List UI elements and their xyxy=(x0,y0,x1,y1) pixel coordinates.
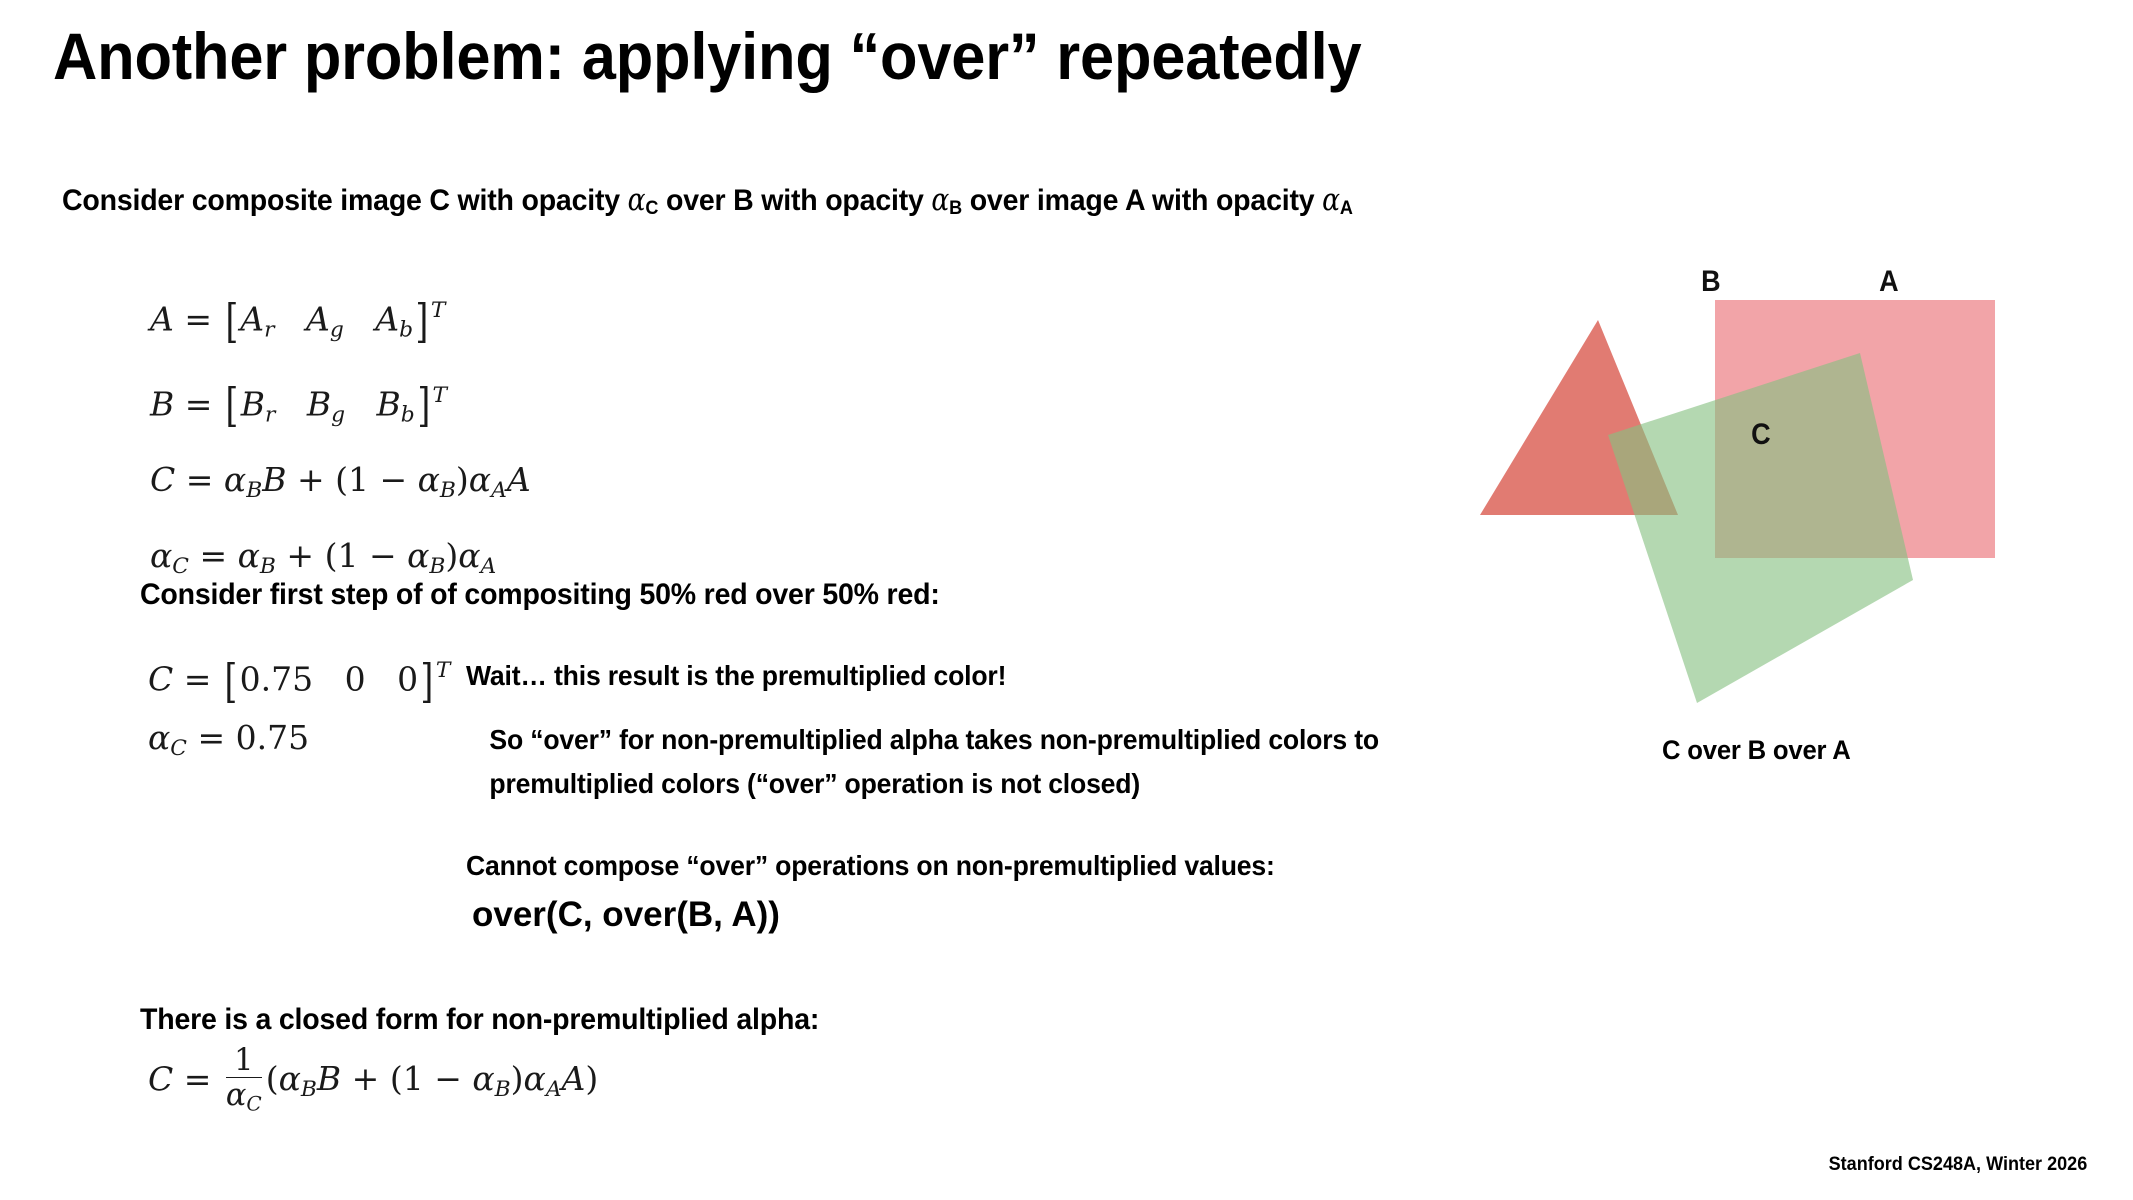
eq-closed-fraction: 1 αC xyxy=(226,1045,262,1115)
eq-c075-value-2: 0 xyxy=(345,660,366,699)
eq-c075-value-3: 0 xyxy=(397,660,418,699)
eq-b-comp-g-sub: g xyxy=(331,402,345,427)
eq-c-rhs: αBB + (1 − αB)αAA xyxy=(224,460,531,499)
note-over-line-1: So “over” for non-premultiplied alpha ta… xyxy=(489,718,1379,762)
heading-first-step: Consider first step of of compositing 50… xyxy=(140,578,940,612)
eq-a-lhs: A xyxy=(150,300,174,339)
eq-b-comp-r-sub: r xyxy=(265,402,275,427)
note-over-line-2: premultiplied colors (“over” operation i… xyxy=(489,762,1379,806)
eq-closed-lhs: C xyxy=(148,1059,173,1098)
eq-a-comp-b-sub: b xyxy=(399,318,413,343)
equation-closed-form: C = 1 αC (αBB + (1 − αB)αAA) xyxy=(148,1045,598,1115)
eq-b-comp-g: B xyxy=(307,384,331,423)
eq-alpha075-value: 0.75 xyxy=(236,718,309,757)
note-over-not-closed: So “over” for non-premultiplied alpha ta… xyxy=(489,718,1379,806)
subtitle-part-3: over image A with opacity xyxy=(962,184,1322,217)
eq-c075-value-1: 0.75 xyxy=(240,660,313,699)
eq-alphac-equals: = xyxy=(199,536,227,575)
eq-alphac-rhs: αB + (1 − αB)αA xyxy=(238,536,497,575)
shape-label-b: B xyxy=(1701,265,1721,299)
slide-footer: Stanford CS248A, Winter 2026 xyxy=(1828,1154,2087,1176)
eq-closed-den-sub: C xyxy=(246,1091,261,1115)
slide-title: Another problem: applying “over” repeate… xyxy=(53,22,1361,91)
composite-diagram-svg xyxy=(1450,280,2070,760)
eq-a-close-bracket: ] xyxy=(416,289,429,354)
eq-closed-rhs: (αBB + (1 − αB)αAA) xyxy=(266,1059,599,1098)
equation-alpha-c-numeric: αC = 0.75 xyxy=(148,718,309,761)
eq-alphac-lhs: αC xyxy=(150,536,189,575)
shape-label-a: A xyxy=(1879,265,1899,299)
equation-c-numeric: C = [0.75 0 0]T xyxy=(148,655,450,708)
eq-a-comp-g-sub: g xyxy=(330,318,344,343)
square-c-shape xyxy=(1608,353,1913,703)
eq-closed-numerator: 1 xyxy=(226,1045,262,1077)
shape-label-c: C xyxy=(1751,418,1771,452)
eq-a-comp-r: A xyxy=(240,300,264,339)
heading-closed-form: There is a closed form for non-premultip… xyxy=(140,1003,819,1037)
eq-closed-denominator: αC xyxy=(226,1077,262,1115)
alpha-c-subscript: C xyxy=(645,198,658,219)
composite-diagram: B A C xyxy=(1450,280,2070,760)
eq-b-lhs: B xyxy=(150,384,174,423)
equation-a-vector: A = [Ar Ag Ab]T xyxy=(150,278,531,363)
eq-b-open-bracket: [ xyxy=(225,373,238,438)
eq-b-equals: = xyxy=(185,384,213,423)
eq-alpha075-lhs-sub: C xyxy=(170,736,187,761)
eq-closed-den-alpha: α xyxy=(226,1078,247,1113)
note-over-call-expression: over(C, over(B, A)) xyxy=(472,895,780,935)
note-wait-premultiplied: Wait… this result is the premultiplied c… xyxy=(466,660,1006,692)
note-cannot-compose: Cannot compose “over” operations on non-… xyxy=(466,850,1275,882)
eq-b-comp-r: B xyxy=(241,384,265,423)
alpha-c-symbol: α xyxy=(628,182,646,218)
eq-b-comp-b-sub: b xyxy=(401,402,415,427)
subtitle-part-1: Consider composite image C with opacity xyxy=(62,184,628,217)
eq-b-transpose: T xyxy=(433,383,448,408)
eq-a-equals: = xyxy=(184,300,212,339)
eq-c075-close-bracket: ] xyxy=(421,655,434,708)
equation-b-vector: B = [Br Bg Bb]T xyxy=(150,363,531,448)
eq-c075-open-bracket: [ xyxy=(224,655,237,708)
eq-a-comp-r-sub: r xyxy=(264,318,274,343)
equation-block-definitions: A = [Ar Ag Ab]T B = [Br Bg Bb]T C = αBB … xyxy=(150,278,531,599)
eq-c-equals: = xyxy=(186,460,214,499)
eq-a-transpose: T xyxy=(431,298,446,323)
slide-subtitle: Consider composite image C with opacity … xyxy=(62,182,1353,220)
eq-c075-equals: = xyxy=(184,660,212,699)
diagram-caption: C over B over A xyxy=(1662,735,1851,766)
eq-alpha075-equals: = xyxy=(197,718,225,757)
equation-c-premultiplied: C = αBB + (1 − αB)αAA xyxy=(150,447,531,523)
eq-b-comp-b: B xyxy=(377,384,401,423)
eq-a-comp-b: A xyxy=(375,300,399,339)
alpha-b-subscript: B xyxy=(949,198,962,219)
eq-c075-lhs: C xyxy=(148,660,173,699)
eq-alpha075-lhs: α xyxy=(148,718,170,757)
eq-c-lhs: C xyxy=(150,460,175,499)
eq-a-comp-g: A xyxy=(306,300,330,339)
eq-closed-equals: = xyxy=(184,1059,212,1098)
alpha-a-subscript: A xyxy=(1340,198,1353,219)
eq-b-close-bracket: ] xyxy=(417,373,430,438)
eq-c075-transpose: T xyxy=(436,658,451,683)
alpha-b-symbol: α xyxy=(931,182,949,218)
alpha-a-symbol: α xyxy=(1322,182,1340,218)
eq-a-open-bracket: [ xyxy=(225,289,238,354)
subtitle-part-2: over B with opacity xyxy=(658,184,931,217)
